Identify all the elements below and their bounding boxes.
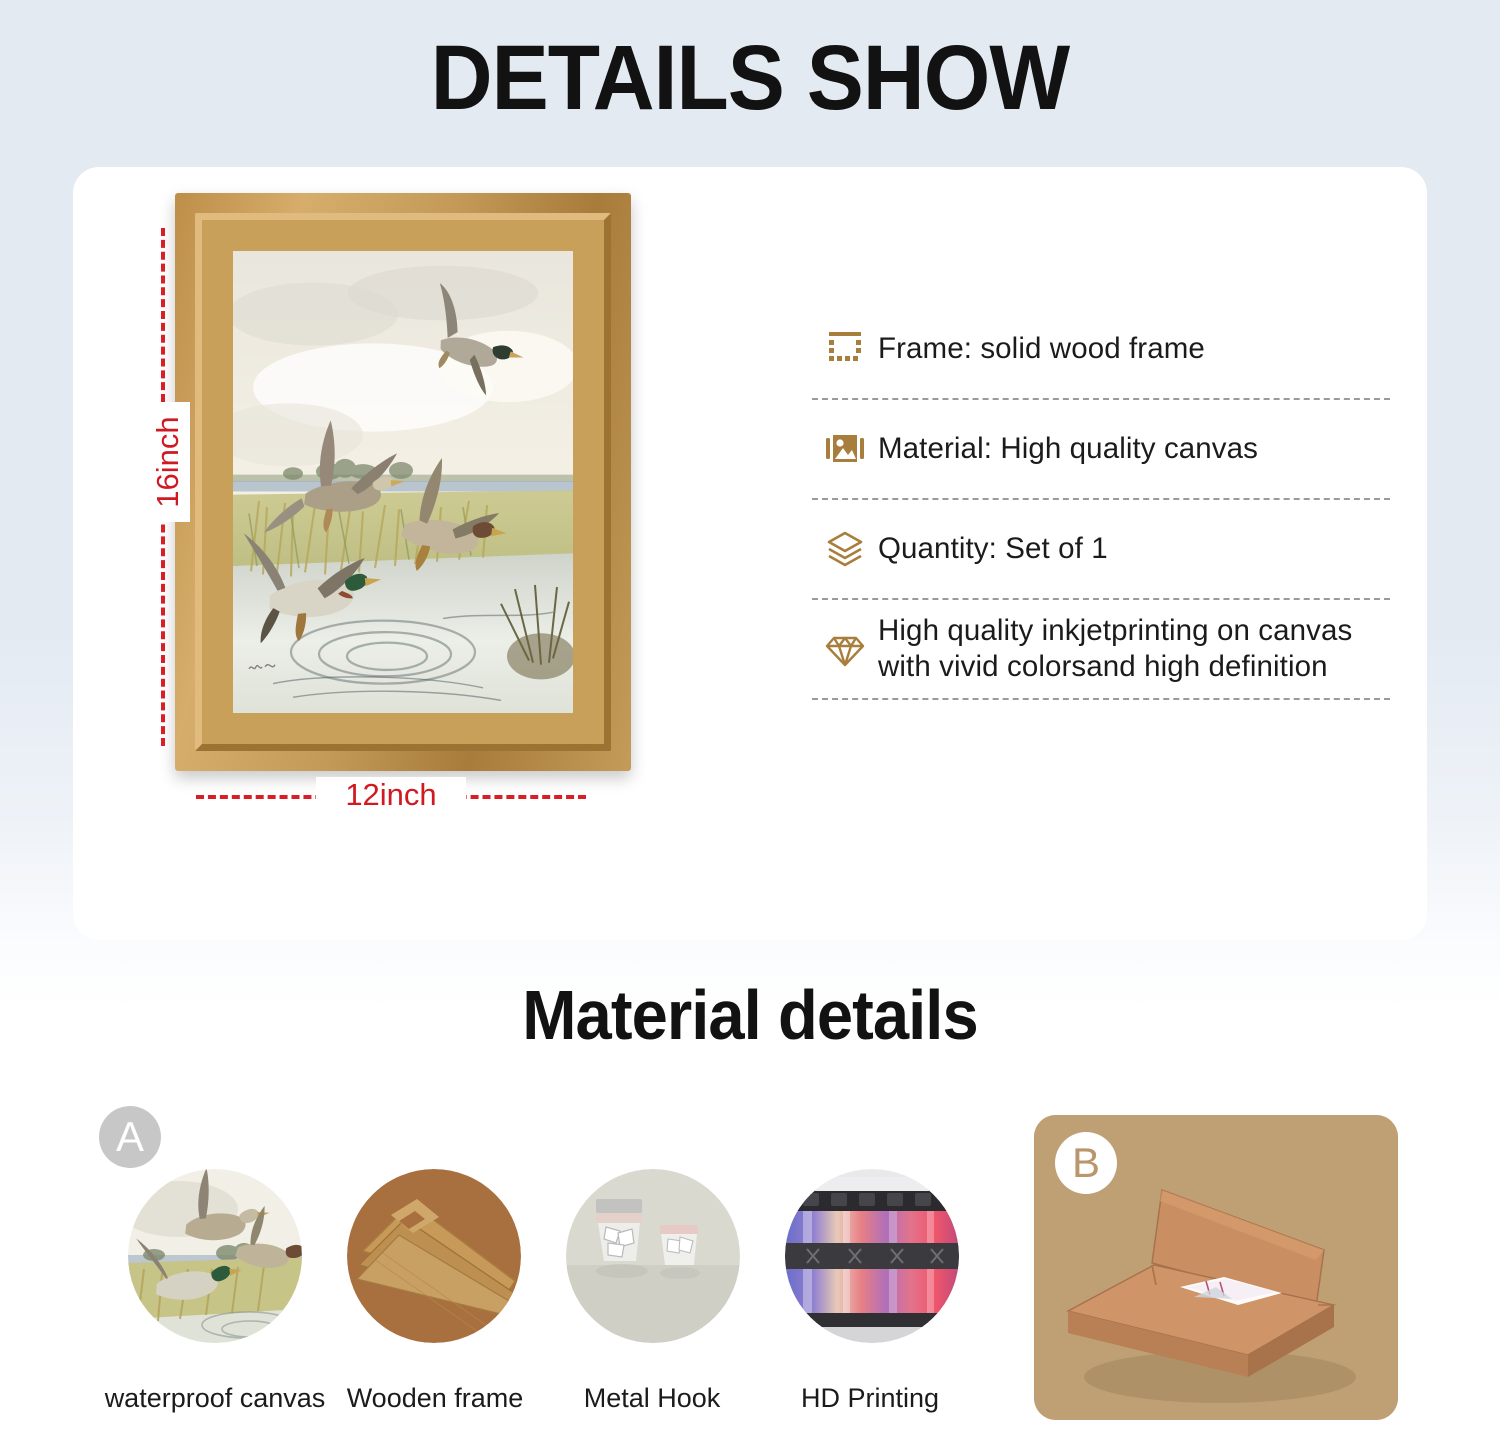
page-title: DETAILS SHOW (53, 28, 1448, 128)
feature-item-quantity: Quantity: Set of 1 (812, 500, 1390, 598)
section-title: Material details (53, 975, 1448, 1055)
feature-item-material: Material: High quality canvas (812, 400, 1390, 498)
layers-icon (812, 528, 878, 570)
badge-a: A (99, 1106, 161, 1168)
feature-item-printing: High quality inkjetprinting on canvas wi… (812, 600, 1390, 698)
feature-list: Frame: solid wood frame Material: High q… (812, 300, 1390, 700)
wood-frame-thumb-icon (347, 1169, 521, 1343)
frame-bevel (195, 213, 611, 751)
thumbnail-label: HD Printing (740, 1383, 1000, 1414)
duck-painting-icon (233, 251, 573, 713)
metal-hook-thumb-icon (566, 1169, 740, 1343)
height-dimension-label: 16inch (146, 402, 190, 522)
feature-item-frame: Frame: solid wood frame (812, 300, 1390, 398)
thumbnail-metal-hook (566, 1169, 740, 1343)
feature-label-line1: High quality inkjetprinting on canvas (878, 613, 1352, 649)
thumbnail-hd-printing (785, 1169, 959, 1343)
wood-frame (175, 193, 631, 771)
diamond-icon (812, 627, 878, 671)
thumbnail-wooden-frame (347, 1169, 521, 1343)
thumbnail-waterproof-canvas (128, 1169, 302, 1343)
framed-artwork (175, 193, 631, 771)
width-dimension-label: 12inch (316, 777, 466, 813)
image-icon (812, 429, 878, 469)
feature-label: Frame: solid wood frame (878, 331, 1205, 367)
artwork-canvas (233, 251, 573, 713)
frame-icon (812, 329, 878, 369)
badge-b: B (1055, 1132, 1117, 1194)
feature-label-line2: with vivid colorsand high definition (878, 649, 1352, 685)
printer-thumb-icon (785, 1169, 959, 1343)
feature-separator (812, 698, 1390, 700)
feature-label: Quantity: Set of 1 (878, 531, 1108, 567)
feature-label: Material: High quality canvas (878, 431, 1258, 467)
canvas-thumb-icon (128, 1169, 302, 1343)
